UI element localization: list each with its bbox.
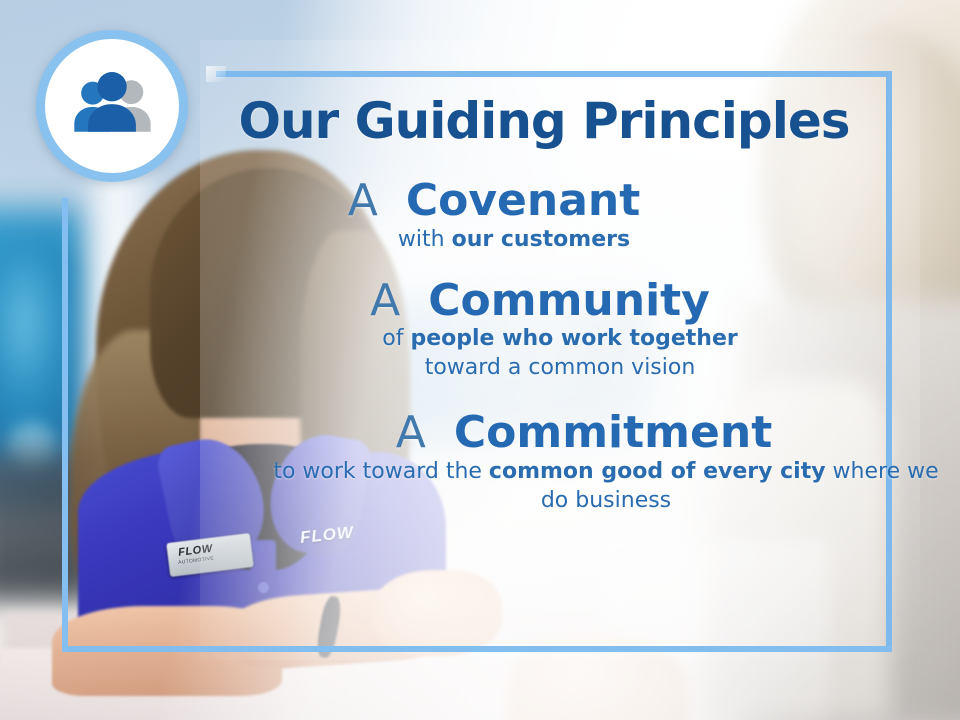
subtext-part: toward a common vision [425, 355, 696, 380]
principle-keyword: Commitment [454, 407, 772, 458]
principle-article: A [348, 175, 392, 226]
subtext-part-bold: our customers [452, 227, 631, 252]
people-group-badge [36, 30, 188, 182]
poster-canvas: FLOW FLOW AUTOMOTIVE [0, 0, 960, 720]
principles-list: A Covenant with our customers A Communit… [210, 178, 882, 535]
principle-article: A [396, 407, 440, 458]
subtext-part-bold: common good of every city [489, 459, 826, 484]
principle-subtext: of people who work together toward a com… [224, 324, 896, 382]
subtext-part: of [382, 326, 410, 351]
frame-border-bottom [62, 646, 892, 652]
principle-community: A Community of people who work together … [210, 278, 882, 383]
principle-subtext: with our customers [178, 225, 850, 254]
frame-border-left [62, 198, 68, 652]
principle-keyword: Community [428, 275, 710, 326]
principle-heading: A Community [204, 278, 876, 325]
principle-commitment: A Commitment to work toward the common g… [210, 410, 882, 515]
subtext-part: with [398, 227, 452, 252]
subtext-part-bold: people who work together [410, 326, 737, 351]
frame-bevel-top-left [206, 66, 226, 82]
page-title: Our Guiding Principles [214, 96, 874, 146]
principle-keyword: Covenant [406, 175, 640, 226]
principle-heading: A Covenant [158, 178, 830, 225]
principle-subtext: to work toward the common good of every … [270, 457, 942, 515]
principle-article: A [370, 275, 414, 326]
subtext-part: to work toward the [273, 459, 489, 484]
principle-heading: A Commitment [248, 410, 920, 457]
frame-border-top [216, 71, 892, 77]
principle-covenant: A Covenant with our customers [210, 178, 882, 254]
people-group-icon [66, 71, 158, 141]
